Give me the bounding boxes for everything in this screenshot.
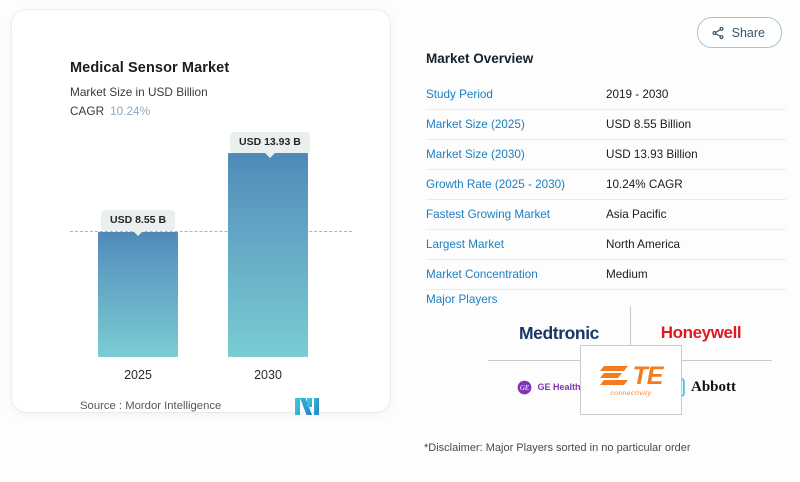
abbott-wordmark: Abbott (691, 379, 736, 396)
bar-chart-plot: USD 8.55 B USD 13.93 B 2025 2030 (12, 10, 390, 412)
table-row: Fastest Growing Market Asia Pacific (426, 200, 786, 230)
row-value: USD 8.55 Billion (606, 118, 691, 131)
row-value: 10.24% CAGR (606, 178, 683, 191)
row-value: Asia Pacific (606, 208, 666, 221)
share-label: Share (732, 26, 765, 40)
row-value: 2019 - 2030 (606, 88, 668, 101)
table-row: Growth Rate (2025 - 2030) 10.24% CAGR (426, 170, 786, 200)
share-button[interactable]: Share (697, 17, 782, 48)
row-value: North America (606, 238, 680, 251)
ge-monogram-icon: GE (517, 380, 532, 395)
overview-table: Study Period 2019 - 2030 Market Size (20… (426, 80, 786, 290)
players-disclaimer: *Disclaimer: Major Players sorted in no … (424, 442, 691, 454)
table-row: Market Size (2030) USD 13.93 Billion (426, 140, 786, 170)
row-key: Market Concentration (426, 268, 606, 281)
te-bars-icon (600, 363, 630, 389)
row-key: Market Size (2025) (426, 118, 606, 131)
row-value: USD 13.93 Billion (606, 148, 698, 161)
overview-title: Market Overview (426, 51, 533, 66)
row-key: Market Size (2030) (426, 148, 606, 161)
bar-2025[interactable] (98, 232, 178, 357)
row-key: Fastest Growing Market (426, 208, 606, 221)
te-tagline: connectivity (610, 390, 651, 397)
row-key: Largest Market (426, 238, 606, 251)
table-row: Market Size (2025) USD 8.55 Billion (426, 110, 786, 140)
report-snapshot: Share Medical Sensor Market Market Size … (0, 0, 800, 482)
source-name: Mordor Intelligence (125, 400, 221, 412)
major-players-label: Major Players (426, 293, 497, 306)
source-label: Source : (80, 400, 122, 412)
row-key: Study Period (426, 88, 606, 101)
mordor-intelligence-logo-icon (295, 397, 321, 415)
bar-label-2025: USD 8.55 B (101, 210, 175, 231)
x-axis-tick-2030: 2030 (228, 368, 308, 382)
te-wordmark: TE (633, 364, 663, 389)
share-icon (711, 26, 725, 40)
chart-source: Source : Mordor Intelligence (80, 400, 221, 412)
row-value: Medium (606, 268, 648, 281)
x-axis-tick-2025: 2025 (98, 368, 178, 382)
chart-card: Medical Sensor Market Market Size in USD… (12, 10, 390, 412)
bar-label-2030: USD 13.93 B (230, 132, 310, 153)
table-row: Market Concentration Medium (426, 260, 786, 290)
bar-2030[interactable] (228, 153, 308, 357)
honeywell-wordmark: Honeywell (661, 323, 741, 343)
table-row: Study Period 2019 - 2030 (426, 80, 786, 110)
row-key: Growth Rate (2025 - 2030) (426, 178, 606, 191)
svg-text:GE: GE (520, 385, 530, 392)
medtronic-wordmark: Medtronic (519, 323, 599, 344)
table-row: Largest Market North America (426, 230, 786, 260)
player-logo-te-connectivity: TE connectivity (580, 345, 682, 415)
